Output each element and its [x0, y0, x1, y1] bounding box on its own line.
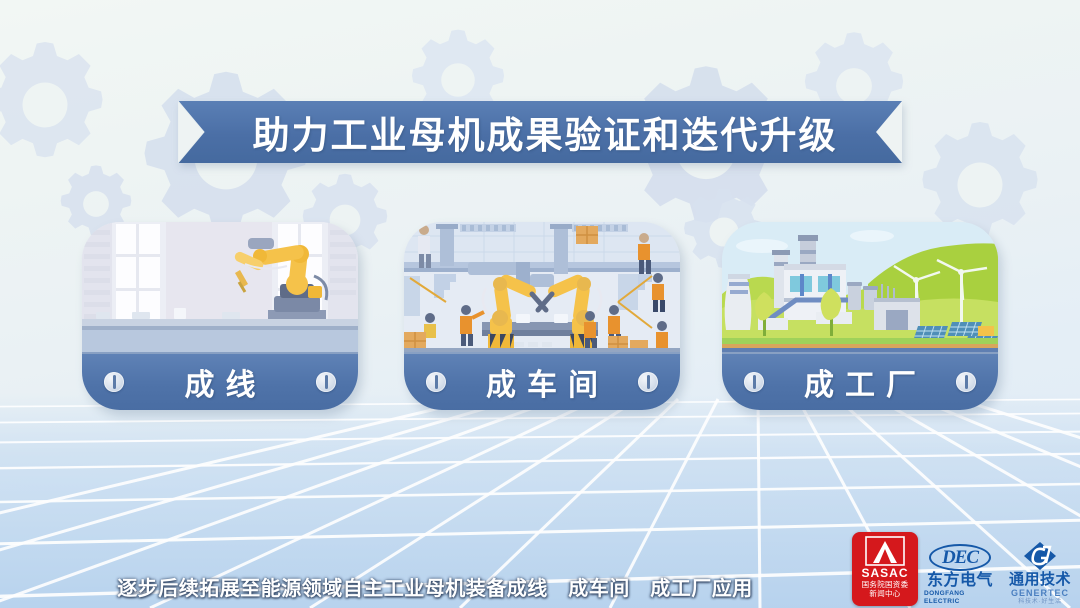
- card-row: 成线: [0, 222, 1080, 414]
- card-label-bar: 成线: [82, 352, 358, 410]
- dec-abbr: DEC: [942, 547, 978, 569]
- dongfang-electric-logo: DEC 东方电气 DONGFANG ELECTRIC: [924, 536, 996, 606]
- green-energy-factory-illustration: [722, 222, 998, 355]
- screw-head-icon: [956, 372, 976, 392]
- card-label-text: 成线: [174, 360, 267, 404]
- page-title: 助力工业母机成果验证和迭代升级: [243, 105, 838, 159]
- card-label-bar: 成车间: [404, 352, 680, 410]
- gt-diamond-mark-icon: [1023, 541, 1057, 571]
- slide-root: 助力工业母机成果验证和迭代升级: [0, 0, 1080, 608]
- genertec-name-en: GENERTEC: [1011, 588, 1069, 598]
- sasac-abbr: SASAC: [861, 567, 908, 580]
- card-cheng-gong-chang[interactable]: 成工厂: [722, 222, 998, 410]
- genertec-name-cn: 通用技术: [1009, 571, 1071, 588]
- dec-oval-mark-icon: DEC: [929, 544, 991, 571]
- sasac-name-line2: 新闻中心: [869, 589, 900, 598]
- card-cheng-xian[interactable]: 成线: [82, 222, 358, 410]
- chevron-right-notch-icon: [178, 101, 212, 163]
- sasac-logo: SASAC 国务院国资委 新闻中心: [852, 532, 918, 606]
- dec-name-en: DONGFANG ELECTRIC: [924, 590, 996, 606]
- dec-name-cn: 东方电气: [927, 572, 993, 590]
- card-label-text: 成车间: [475, 360, 609, 404]
- sasac-name-line1: 国务院国资委: [862, 580, 909, 589]
- card-label-text: 成工厂: [793, 360, 927, 404]
- screw-head-icon: [104, 372, 124, 392]
- logo-bar: SASAC 国务院国资委 新闻中心 DEC 东方电气 DONGFANG ELEC…: [852, 532, 1078, 606]
- genertec-tagline: 科技术·好生活: [1018, 598, 1062, 606]
- card-cheng-che-jian[interactable]: 成车间: [404, 222, 680, 410]
- gear-icon: [0, 30, 120, 180]
- screw-head-icon: [638, 372, 658, 392]
- smart-workshop-illustration: [404, 222, 680, 355]
- production-line-robot-arm-illustration: [82, 222, 358, 355]
- genertec-logo: 通用技术 GENERTEC 科技术·好生活: [1002, 536, 1078, 606]
- screw-head-icon: [744, 372, 764, 392]
- screw-head-icon: [426, 372, 446, 392]
- chevron-left-notch-icon: [868, 101, 902, 163]
- screw-head-icon: [316, 372, 336, 392]
- white-triangle-arch-mark-icon: [865, 536, 905, 566]
- card-label-bar: 成工厂: [722, 352, 998, 410]
- title-banner-body: 助力工业母机成果验证和迭代升级: [178, 101, 902, 163]
- title-banner: 助力工业母机成果验证和迭代升级: [178, 101, 902, 163]
